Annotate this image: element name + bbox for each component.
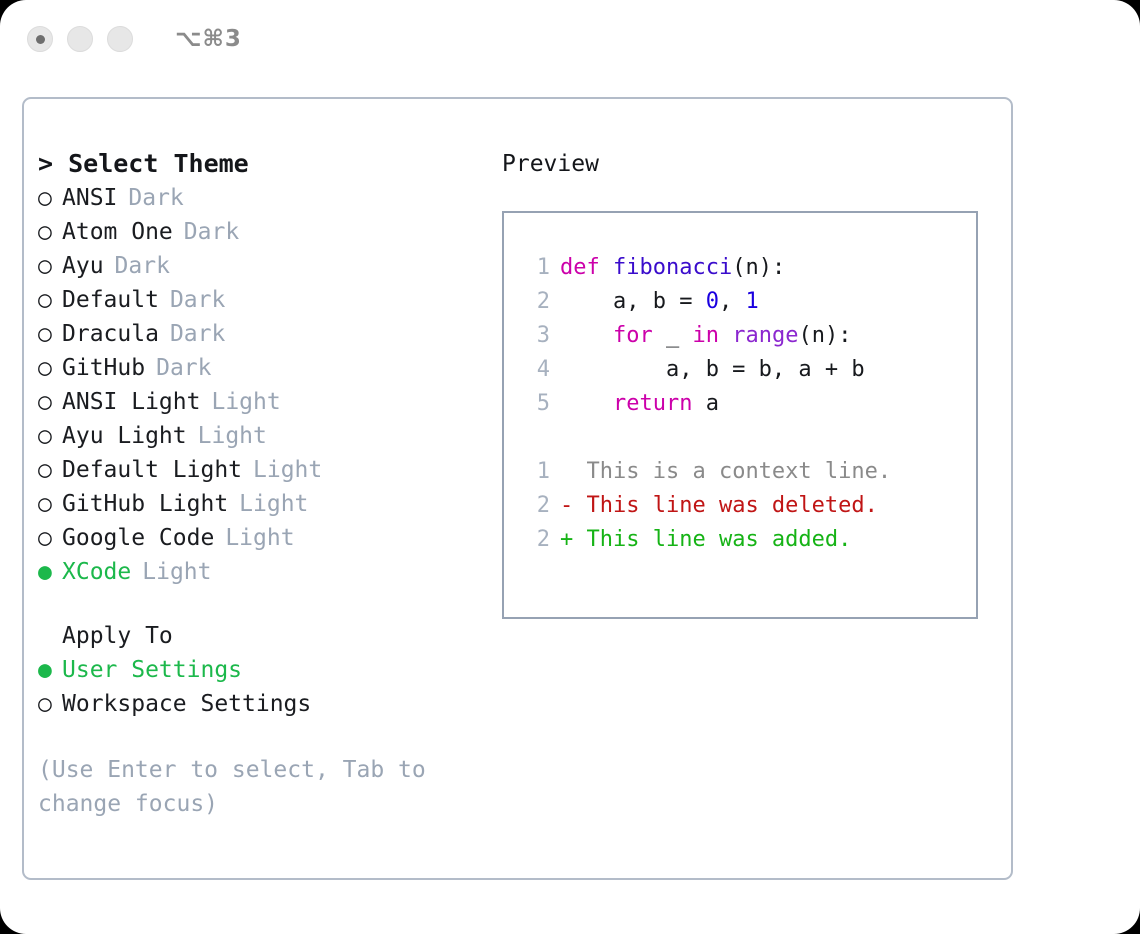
theme-item-xcode[interactable]: ●XCodeLight	[38, 555, 508, 589]
theme-item-kind: Dark	[184, 215, 239, 249]
theme-item-atom-one[interactable]: ○Atom OneDark	[38, 215, 508, 249]
code-line-text: def fibonacci(n):	[560, 251, 785, 285]
theme-item-label: Ayu	[62, 249, 104, 283]
radio-unselected-icon: ○	[38, 181, 62, 215]
radio-selected-icon: ●	[38, 653, 62, 687]
apply-to-heading: Apply To	[38, 619, 508, 653]
theme-item-label: ANSI Light	[62, 385, 200, 419]
code-token: in	[692, 323, 732, 348]
theme-item-kind: Dark	[156, 351, 211, 385]
code-spacer	[516, 421, 976, 455]
code-token: a, b =	[560, 289, 706, 314]
keyboard-hint-text: (Use Enter to select, Tab to change focu…	[38, 753, 448, 821]
recording-dot-inner	[36, 35, 45, 44]
code-line: 1def fibonacci(n):	[516, 251, 976, 285]
diff-line: 2+ This line was added.	[516, 523, 976, 557]
radio-unselected-icon: ○	[38, 521, 62, 555]
radio-unselected-icon: ○	[38, 453, 62, 487]
theme-item-label: ANSI	[62, 181, 117, 215]
code-token: (n):	[732, 255, 785, 280]
radio-unselected-icon: ○	[38, 351, 62, 385]
code-token: 0	[706, 289, 719, 314]
radio-unselected-icon: ○	[38, 283, 62, 317]
theme-item-kind: Light	[211, 385, 280, 419]
code-token: a, b = b, a + b	[560, 357, 865, 382]
radio-unselected-icon: ○	[38, 249, 62, 283]
window-dot-3-icon[interactable]	[107, 26, 133, 52]
theme-item-kind: Light	[253, 453, 322, 487]
radio-unselected-icon: ○	[38, 419, 62, 453]
code-line-number: 4	[516, 353, 560, 387]
preview-heading: Preview	[502, 147, 1002, 181]
code-line-text: a, b = 0, 1	[560, 285, 759, 319]
theme-item-label: XCode	[62, 555, 131, 589]
code-line-number: 2	[516, 285, 560, 319]
apply-to-item-workspace-settings[interactable]: ○Workspace Settings	[38, 687, 508, 721]
keyboard-shortcut-label: ⌥⌘3	[175, 26, 242, 52]
diff-line-number: 2	[516, 523, 560, 557]
code-line: 3 for _ in range(n):	[516, 319, 976, 353]
theme-item-ayu[interactable]: ○AyuDark	[38, 249, 508, 283]
radio-unselected-icon: ○	[38, 317, 62, 351]
recording-dot-icon[interactable]	[27, 26, 53, 52]
theme-item-label: Default Light	[62, 453, 242, 487]
apply-to-list[interactable]: ●User Settings○Workspace Settings	[38, 653, 508, 721]
code-line-number: 1	[516, 251, 560, 285]
theme-item-kind: Light	[225, 521, 294, 555]
apply-to-item-label: Workspace Settings	[62, 687, 311, 721]
theme-item-github-light[interactable]: ○GitHub LightLight	[38, 487, 508, 521]
theme-item-label: GitHub	[62, 351, 145, 385]
code-line-text: return a	[560, 387, 719, 421]
theme-item-kind: Dark	[115, 249, 170, 283]
preview-column: Preview 1def fibonacci(n):2 a, b = 0, 13…	[502, 147, 1002, 619]
theme-item-label: Atom One	[62, 215, 173, 249]
radio-selected-icon: ●	[38, 555, 62, 589]
code-sample: 1def fibonacci(n):2 a, b = 0, 13 for _ i…	[516, 251, 976, 421]
theme-item-github[interactable]: ○GitHubDark	[38, 351, 508, 385]
diff-line: 2- This line was deleted.	[516, 489, 976, 523]
theme-item-label: Google Code	[62, 521, 214, 555]
theme-item-kind: Dark	[128, 181, 183, 215]
theme-item-ansi[interactable]: ○ANSIDark	[38, 181, 508, 215]
theme-item-default[interactable]: ○DefaultDark	[38, 283, 508, 317]
code-line: 5 return a	[516, 387, 976, 421]
panel-columns: > Select Theme ○ANSIDark○Atom OneDark○Ay…	[24, 99, 1011, 878]
diff-line-text: This line was added.	[587, 523, 852, 557]
theme-list[interactable]: ○ANSIDark○Atom OneDark○AyuDark○DefaultDa…	[38, 181, 508, 589]
theme-item-kind: Dark	[170, 317, 225, 351]
theme-item-kind: Dark	[170, 283, 225, 317]
apply-to-item-label: User Settings	[62, 653, 242, 687]
theme-item-google-code[interactable]: ○Google CodeLight	[38, 521, 508, 555]
code-line-number: 5	[516, 387, 560, 421]
theme-item-label: Default	[62, 283, 159, 317]
diff-marker	[560, 455, 587, 489]
code-token: fibonacci	[613, 255, 732, 280]
code-line-text: for _ in range(n):	[560, 319, 851, 353]
diff-line-number: 2	[516, 489, 560, 523]
code-token: ,	[719, 289, 746, 314]
radio-unselected-icon: ○	[38, 215, 62, 249]
theme-item-ayu-light[interactable]: ○Ayu LightLight	[38, 419, 508, 453]
diff-marker: -	[560, 489, 587, 523]
diff-marker: +	[560, 523, 587, 557]
select-theme-heading: > Select Theme	[38, 147, 508, 181]
theme-item-dracula[interactable]: ○DraculaDark	[38, 317, 508, 351]
code-token: (n):	[798, 323, 851, 348]
theme-item-label: Dracula	[62, 317, 159, 351]
radio-unselected-icon: ○	[38, 487, 62, 521]
code-line-number: 3	[516, 319, 560, 353]
code-token: range	[732, 323, 798, 348]
code-token: for	[560, 323, 666, 348]
code-token: a	[706, 391, 719, 416]
theme-item-label: Ayu Light	[62, 419, 187, 453]
code-token: def	[560, 255, 613, 280]
diff-sample: 1 This is a context line.2- This line wa…	[516, 455, 976, 557]
diff-line-number: 1	[516, 455, 560, 489]
apply-to-item-user-settings[interactable]: ●User Settings	[38, 653, 508, 687]
radio-unselected-icon: ○	[38, 687, 62, 721]
theme-item-kind: Light	[239, 487, 308, 521]
diff-line-text: This is a context line.	[587, 455, 892, 489]
theme-item-default-light[interactable]: ○Default LightLight	[38, 453, 508, 487]
diff-line: 1 This is a context line.	[516, 455, 976, 489]
diff-line-text: This line was deleted.	[587, 489, 878, 523]
title-bar: ⌥⌘3	[0, 0, 1140, 78]
code-line-text: a, b = b, a + b	[560, 353, 865, 387]
code-line: 4 a, b = b, a + b	[516, 353, 976, 387]
theme-item-label: GitHub Light	[62, 487, 228, 521]
theme-item-kind: Light	[142, 555, 211, 589]
code-token: 1	[745, 289, 758, 314]
theme-item-kind: Light	[198, 419, 267, 453]
window-dot-2-icon[interactable]	[67, 26, 93, 52]
code-token: _	[666, 323, 693, 348]
radio-unselected-icon: ○	[38, 385, 62, 419]
theme-preview-box: 1def fibonacci(n):2 a, b = 0, 13 for _ i…	[502, 211, 978, 619]
theme-picker-panel: > Select Theme ○ANSIDark○Atom OneDark○Ay…	[22, 97, 1013, 880]
code-token: return	[560, 391, 706, 416]
app-window: ⌥⌘3 > Select Theme ○ANSIDark○Atom OneDar…	[0, 0, 1140, 934]
code-line: 2 a, b = 0, 1	[516, 285, 976, 319]
theme-selection-column: > Select Theme ○ANSIDark○Atom OneDark○Ay…	[38, 147, 508, 821]
theme-item-ansi-light[interactable]: ○ANSI LightLight	[38, 385, 508, 419]
